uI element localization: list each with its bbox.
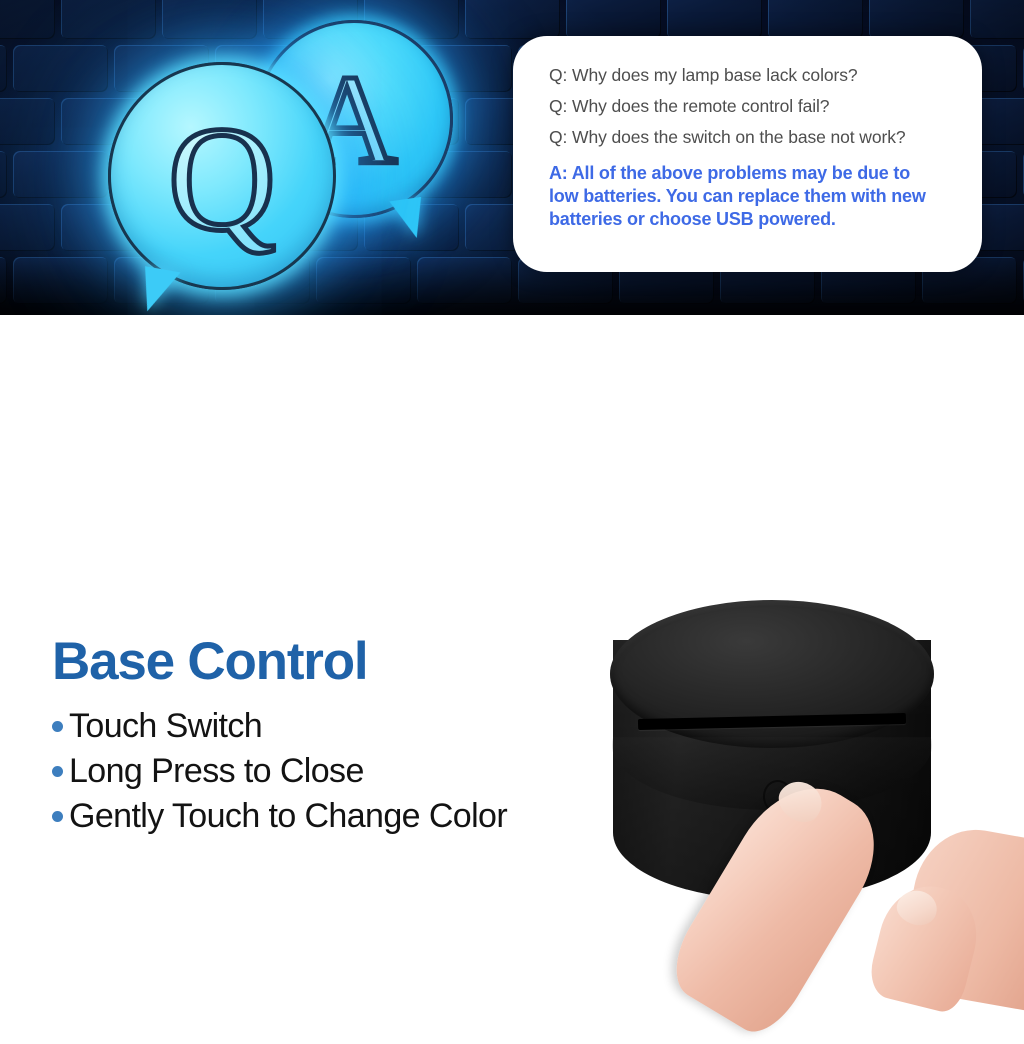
lamp-base-product-photo xyxy=(610,600,940,950)
question-bubble: Q xyxy=(108,62,336,290)
question-bubble-tail xyxy=(137,266,180,315)
base-control-section: Base Control Touch Switch Long Press to … xyxy=(0,315,1024,1024)
feature-item: Long Press to Close xyxy=(52,751,572,791)
qa-answer: A: All of the above problems may be due … xyxy=(549,162,939,231)
answer-bubble-tail xyxy=(389,197,426,241)
feature-label: Gently Touch to Change Color xyxy=(69,796,507,836)
base-control-title: Base Control xyxy=(52,635,572,688)
speech-bubbles: A Q xyxy=(0,0,520,315)
qa-question-3: Q: Why does the switch on the base not w… xyxy=(549,122,956,153)
feature-label: Long Press to Close xyxy=(69,751,364,791)
thumbnail xyxy=(893,886,940,929)
qa-card: Q: Why does my lamp base lack colors? Q:… xyxy=(513,36,982,272)
question-bubble-letter: Q xyxy=(168,104,276,254)
bullet-dot-icon xyxy=(52,811,63,822)
bullet-dot-icon xyxy=(52,721,63,732)
base-control-text-block: Base Control Touch Switch Long Press to … xyxy=(52,635,572,841)
bullet-dot-icon xyxy=(52,766,63,777)
qa-question-2: Q: Why does the remote control fail? xyxy=(549,91,956,122)
feature-item: Touch Switch xyxy=(52,706,572,746)
feature-item: Gently Touch to Change Color xyxy=(52,796,572,836)
feature-label: Touch Switch xyxy=(69,706,262,746)
qa-question-1: Q: Why does my lamp base lack colors? xyxy=(549,60,956,91)
qa-banner: A Q Q: Why does my lamp base lack colors… xyxy=(0,0,1024,315)
